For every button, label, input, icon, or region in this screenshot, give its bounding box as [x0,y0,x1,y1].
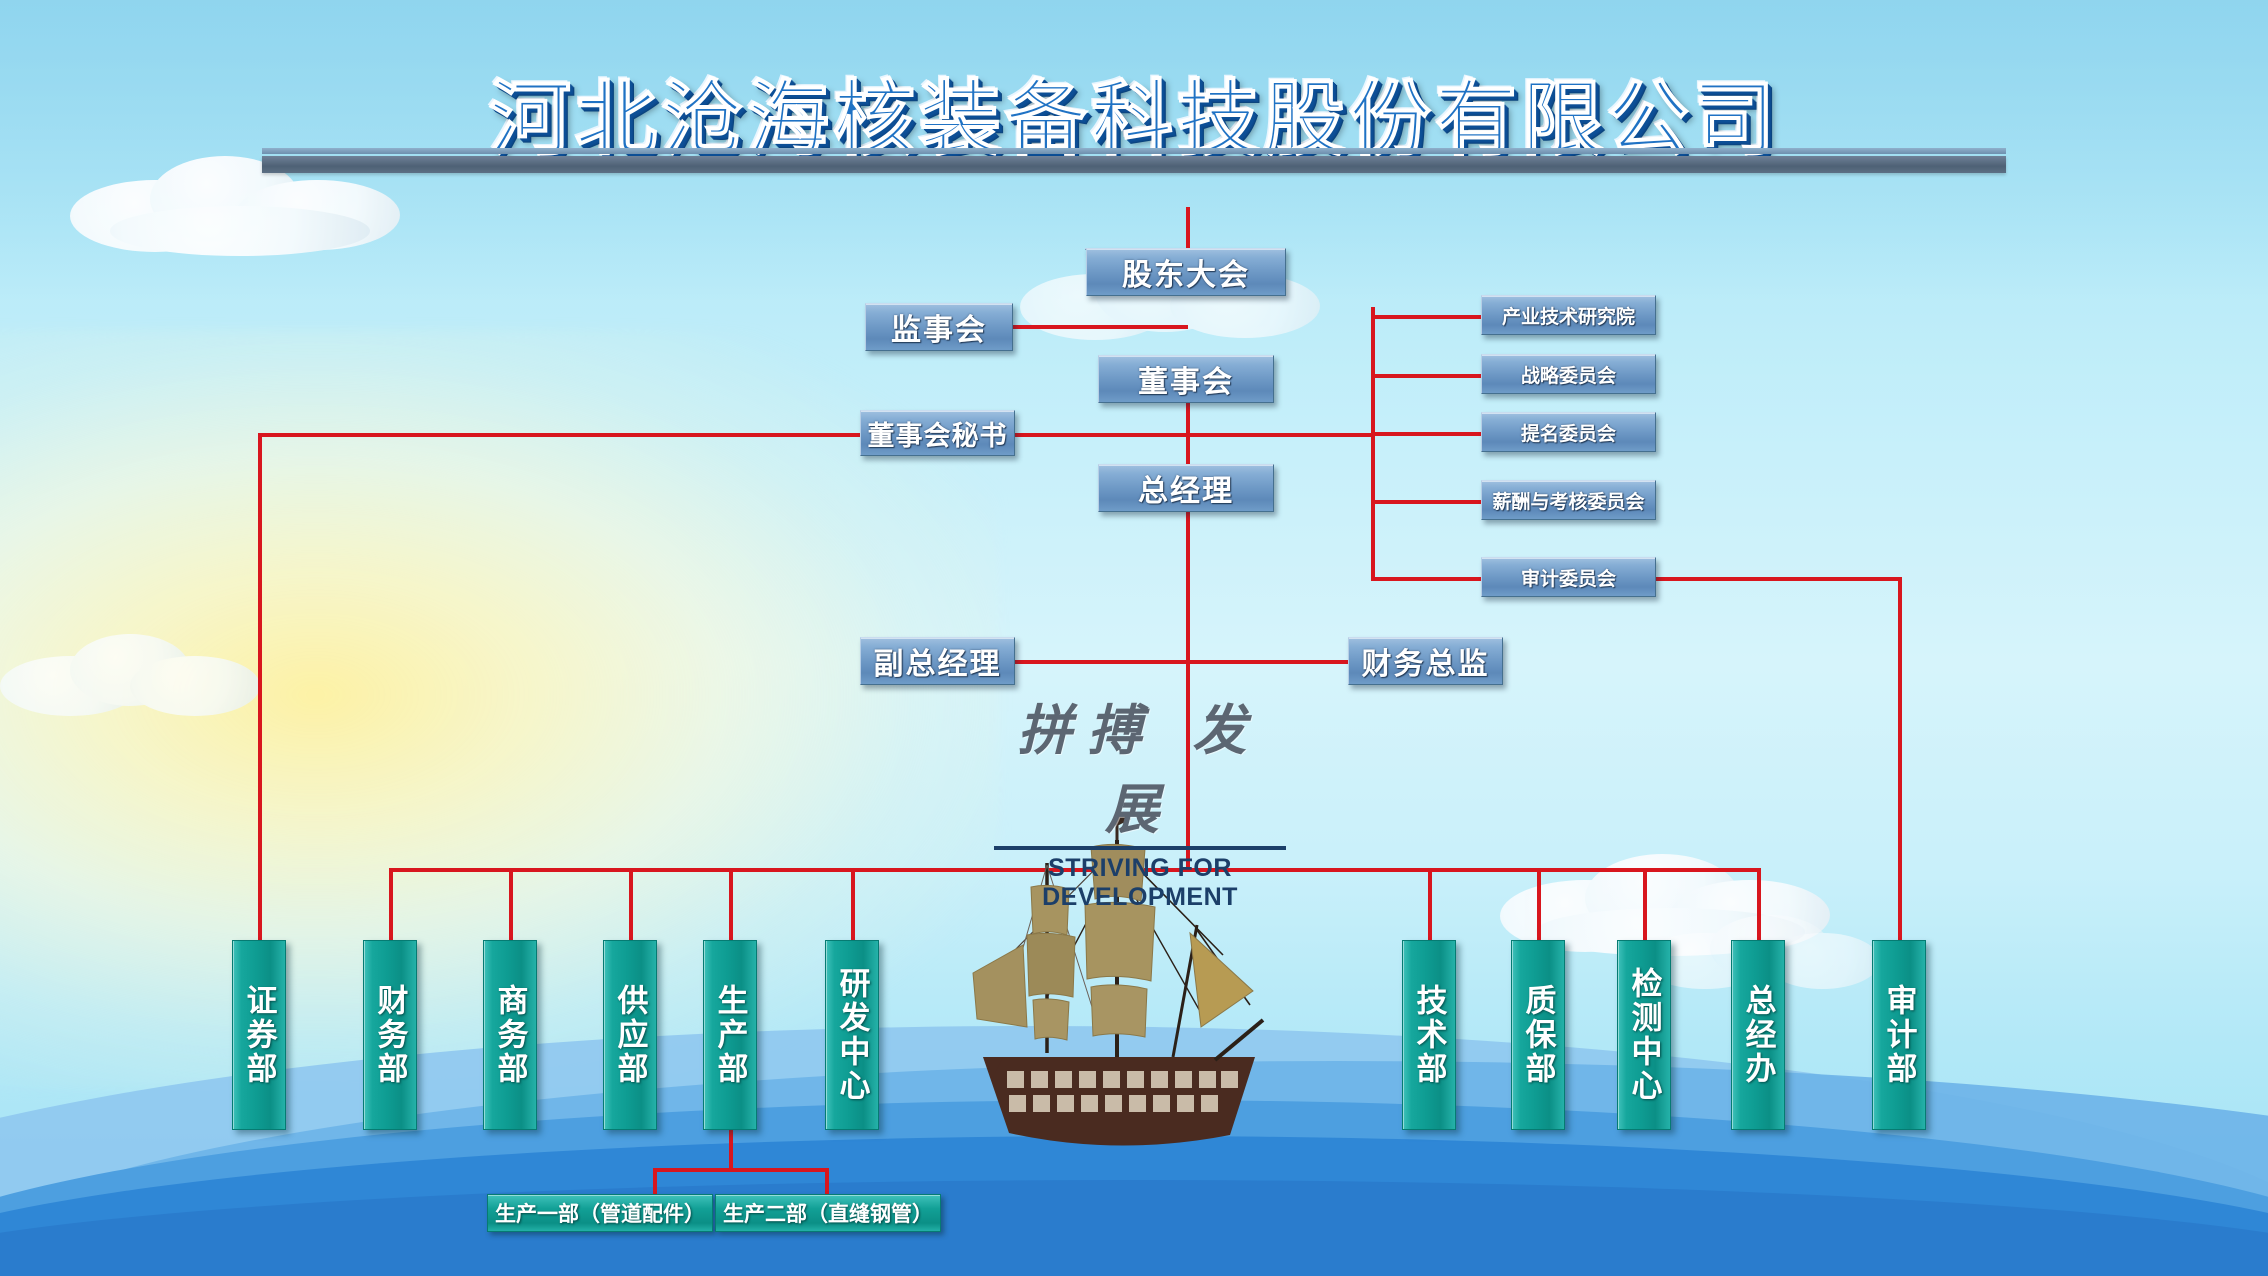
node-board-label: 董事会 [1138,357,1234,401]
node-committee-4[interactable]: 审计委员会 [1481,557,1656,597]
line-committee-spine [1371,307,1375,581]
line-drop-gm-office [1757,868,1761,940]
line-drop-rnd [851,868,855,940]
dept-supply[interactable]: 供应部 [603,940,657,1130]
dept-label: 检测中心 [1622,967,1667,1103]
dept-label: 审计部 [1877,984,1922,1086]
dept-finance[interactable]: 财务部 [363,940,417,1130]
node-financial-director-label: 财务总监 [1362,639,1490,683]
node-board-secretary[interactable]: 董事会秘书 [860,410,1015,456]
dept-quality-assurance[interactable]: 质保部 [1511,940,1565,1130]
title-divider-dark [262,156,2006,173]
line-drop-business [509,868,513,940]
dept-rnd-center[interactable]: 研发中心 [825,940,879,1130]
dept-label: 总经办 [1736,984,1781,1086]
subdept-label: 生产一部（管道配件） [495,1198,705,1228]
line-committee-3 [1371,432,1481,436]
committee-label: 提名委员会 [1521,419,1616,446]
committee-label: 产业技术研究院 [1502,302,1635,329]
dept-technology[interactable]: 技术部 [1402,940,1456,1130]
subdept-production-unit-1[interactable]: 生产一部（管道配件） [487,1194,713,1232]
slogan-chinese: 拼搏 发展 [990,686,1290,844]
node-board-of-directors[interactable]: 董事会 [1098,355,1274,403]
node-board-secretary-label: 董事会秘书 [868,414,1008,453]
line-committee-5 [1371,577,1481,581]
dept-label: 技术部 [1407,984,1452,1086]
node-financial-director[interactable]: 财务总监 [1348,637,1503,685]
slogan: 拼搏 发展 STRIVING FOR DEVELOPMENT [990,686,1290,912]
dept-label: 财务部 [368,984,413,1086]
committee-label: 战略委员会 [1521,361,1616,388]
line-committee-1 [1371,315,1481,319]
line-financial-director [1186,660,1348,664]
line-secretary-to-securities [258,433,262,940]
dept-audit[interactable]: 审计部 [1872,940,1926,1130]
line-drop-supply [629,868,633,940]
line-drop-finance [389,868,393,940]
dept-gm-office[interactable]: 总经办 [1731,940,1785,1130]
line-committee-4 [1371,500,1481,504]
line-board-to-committee-spine [1186,433,1373,437]
line-deputy-gm [1011,660,1186,664]
committee-label: 审计委员会 [1521,564,1616,591]
dept-label: 证券部 [237,984,282,1086]
node-supervisors[interactable]: 监事会 [865,303,1013,351]
slogan-divider [994,846,1286,850]
line-drop-tech [1428,868,1432,940]
title-divider-light [262,148,2006,154]
node-deputy-general-manager[interactable]: 副总经理 [860,637,1015,685]
node-committee-3[interactable]: 薪酬与考核委员会 [1481,480,1656,520]
committee-label: 薪酬与考核委员会 [1492,487,1644,514]
dept-business[interactable]: 商务部 [483,940,537,1130]
line-secretary-right [1011,433,1188,437]
line-drop-testing [1643,868,1647,940]
dept-production[interactable]: 生产部 [703,940,757,1130]
node-committee-2[interactable]: 提名委员会 [1481,412,1656,452]
subdept-label: 生产二部（直缝钢管） [723,1198,933,1228]
node-committee-0[interactable]: 产业技术研究院 [1481,295,1656,335]
node-supervisors-label: 监事会 [891,305,987,349]
line-supervisors-to-trunk [1011,325,1188,329]
dept-securities[interactable]: 证券部 [232,940,286,1130]
line-prod-unit-bus [653,1168,827,1172]
dept-label: 商务部 [488,984,533,1086]
dept-label: 质保部 [1516,984,1561,1086]
dept-testing-center[interactable]: 检测中心 [1617,940,1671,1130]
node-committee-1[interactable]: 战略委员会 [1481,354,1656,394]
slogan-english: STRIVING FOR DEVELOPMENT [990,854,1290,912]
node-shareholders-label: 股东大会 [1122,250,1250,294]
dept-label: 供应部 [608,984,653,1086]
dept-label: 生产部 [708,984,753,1086]
node-general-manager[interactable]: 总经理 [1098,464,1274,512]
line-drop-qa [1537,868,1541,940]
subdept-production-unit-2[interactable]: 生产二部（直缝钢管） [715,1194,941,1232]
line-secretary-left [258,433,862,437]
node-shareholders[interactable]: 股东大会 [1086,248,1286,296]
dept-label: 研发中心 [830,967,875,1103]
line-committee-2 [1371,374,1481,378]
node-general-manager-label: 总经理 [1138,466,1234,510]
line-audit-down [1898,577,1902,940]
node-deputy-gm-label: 副总经理 [874,639,1002,683]
poster-background: 河北沧海核装备科技股份有限公司 [0,0,2268,1276]
line-drop-production [729,868,733,940]
